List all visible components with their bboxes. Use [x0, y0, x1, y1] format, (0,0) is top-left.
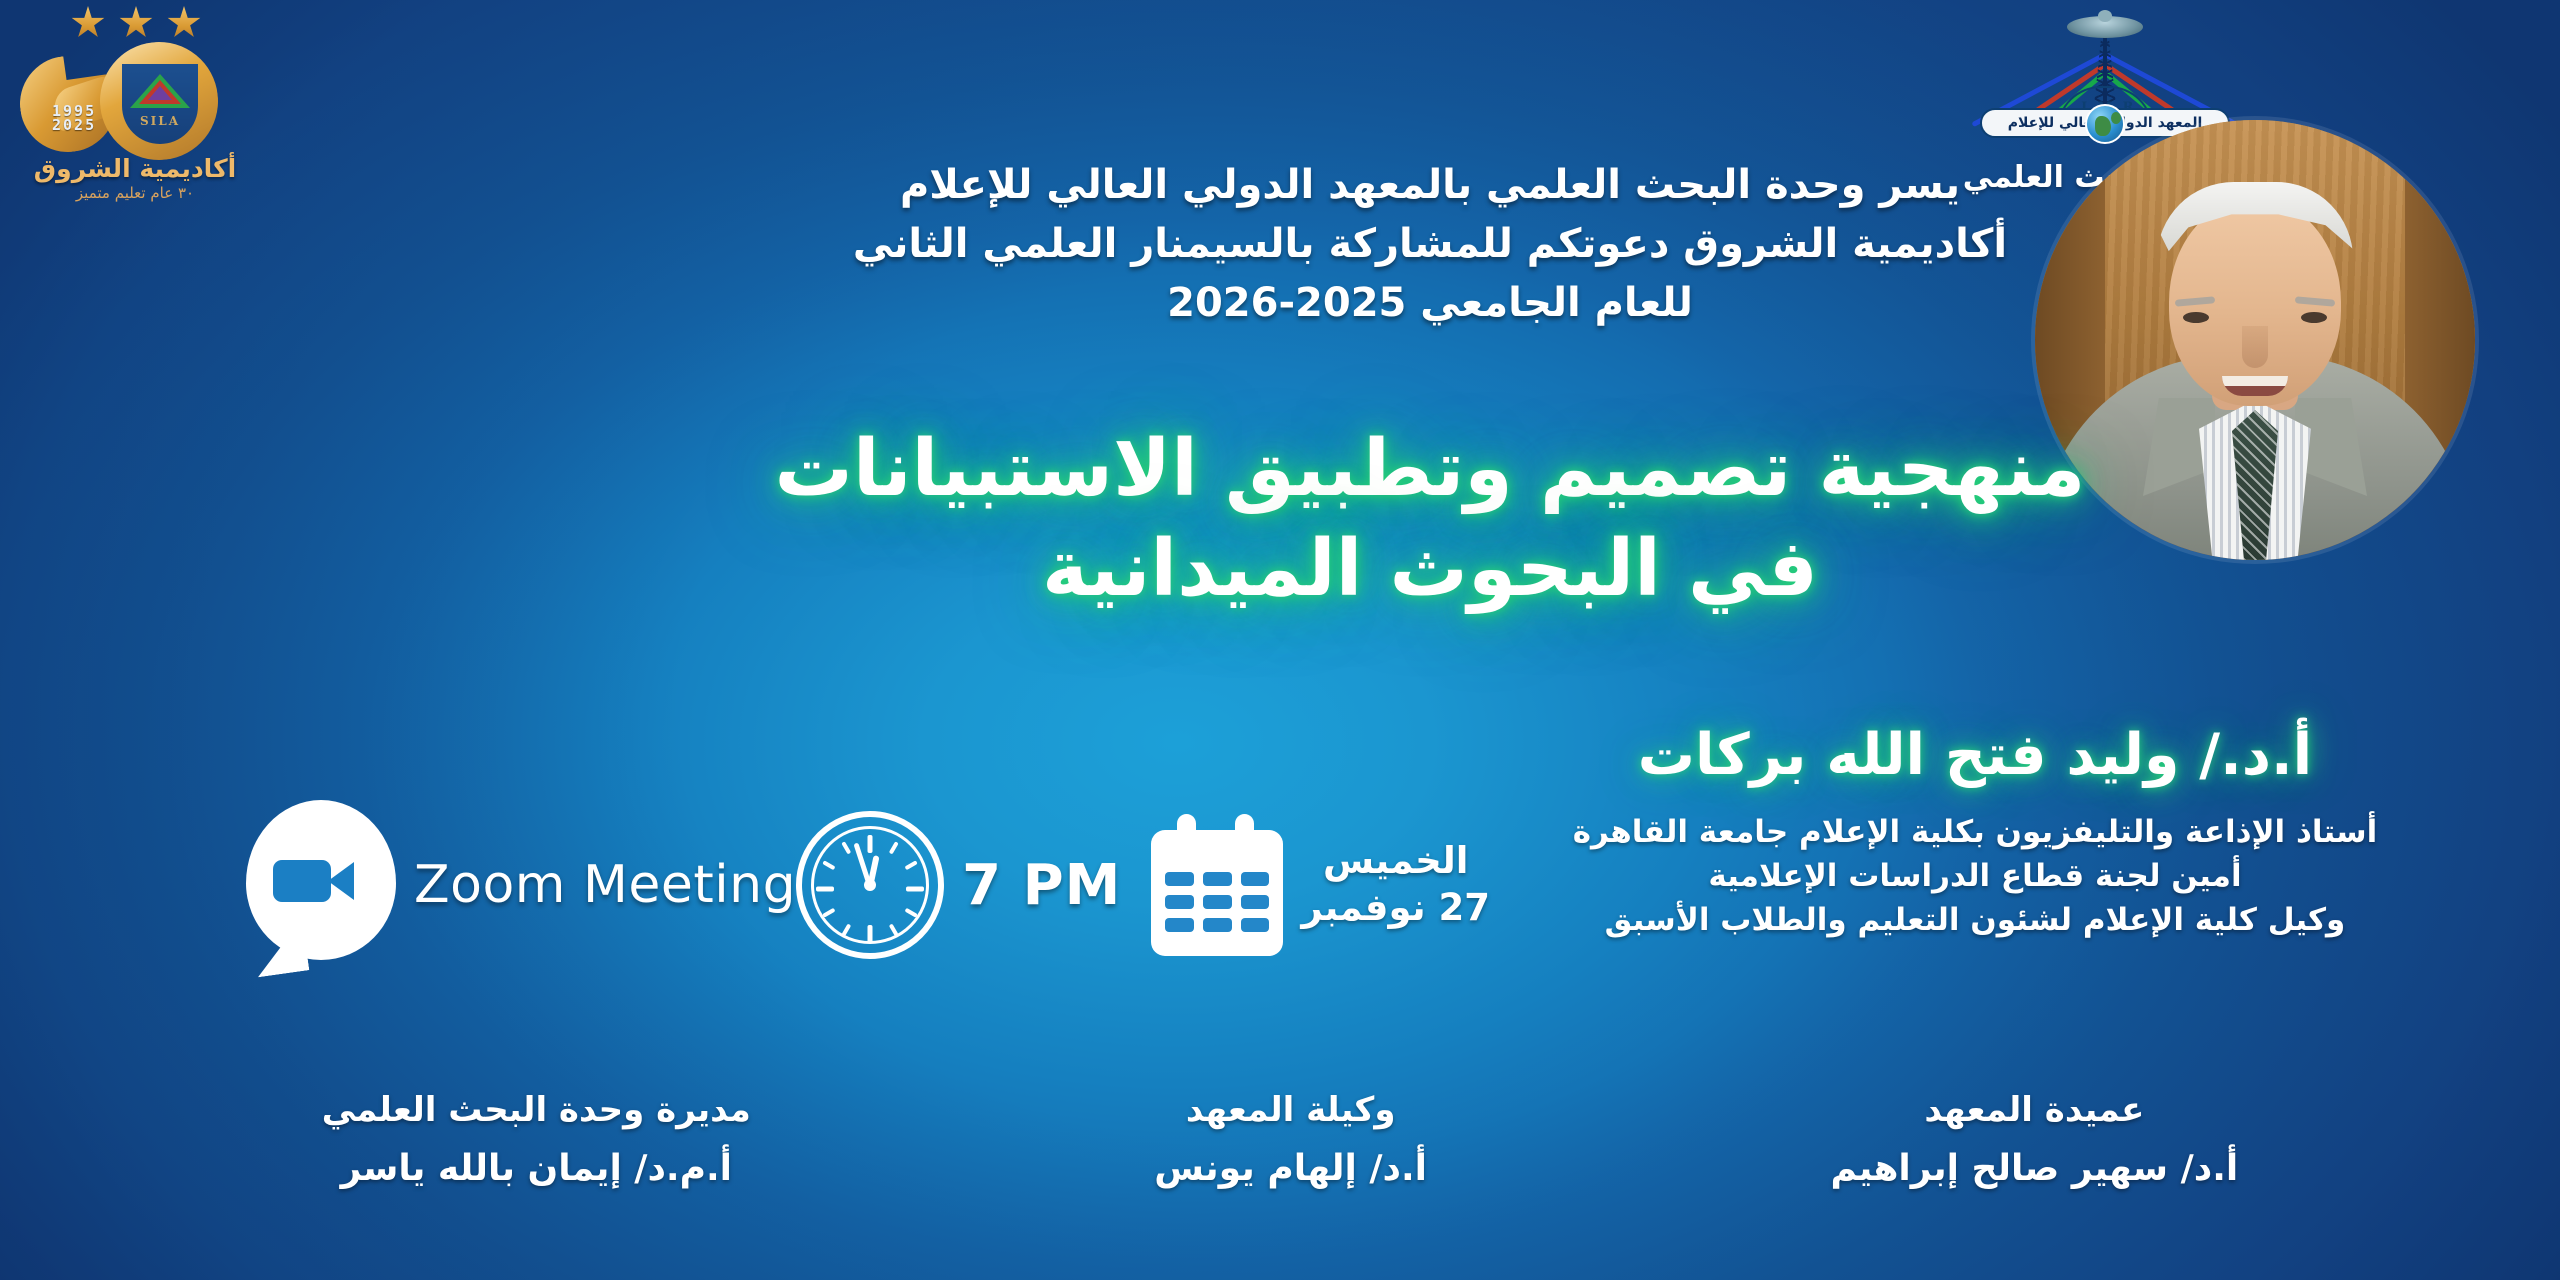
date-info: الخميس 27 نوفمبر	[1151, 814, 1490, 956]
speaker-title-3: وكيل كلية الإعلام لشئون التعليم والطلاب …	[1470, 898, 2480, 942]
anniversary-30-mark: SILA 19952025	[18, 30, 218, 155]
academy-tagline: ٣٠ عام تعليم متميز	[10, 184, 260, 202]
speaker-title-1: أستاذ الإذاعة والتليفزيون بكلية الإعلام …	[1470, 810, 2480, 854]
signatory-name: أ.د/ إلهام يونس	[1154, 1148, 1427, 1189]
date-label: الخميس 27 نوفمبر	[1301, 838, 1490, 931]
event-info-row: Zoom Meeting 7 PM	[40, 780, 1520, 990]
platform-label: Zoom Meeting	[414, 855, 796, 915]
sila-badge-label: SILA	[122, 114, 198, 128]
academy-logo: SILA 19952025 أكاديمية الشروق ٣٠ عام تعل…	[10, 2, 260, 217]
footer-signatories: عميدة المعهد أ.د/ سهير صالح إبراهيم وكيل…	[0, 1090, 2560, 1270]
signatory-vice-dean: وكيلة المعهد أ.د/ إلهام يونس	[1154, 1090, 1427, 1189]
time-info: 7 PM	[796, 811, 1121, 959]
anniversary-years: 19952025	[52, 104, 96, 132]
platform-info: Zoom Meeting	[246, 800, 796, 970]
date-day: الخميس	[1301, 838, 1490, 885]
speaker-name: أ.د./ وليد فتح الله بركات	[1470, 722, 2480, 788]
signatory-name: أ.د/ سهير صالح إبراهيم	[1831, 1148, 2239, 1189]
signatory-role: وكيلة المعهد	[1154, 1090, 1427, 1130]
speaker-titles: أستاذ الإذاعة والتليفزيون بكلية الإعلام …	[1470, 810, 2480, 942]
signatory-name: أ.م.د/ إيمان بالله ياسر	[322, 1148, 751, 1189]
seminar-title-line-2: في البحوث الميدانية	[770, 520, 2090, 620]
seminar-title: منهجية تصميم وتطبيق الاستبيانات في البحو…	[770, 420, 2090, 620]
seminar-poster: SILA 19952025 أكاديمية الشروق ٣٠ عام تعل…	[0, 0, 2560, 1280]
header-line-2: أكاديمية الشروق دعوتكم للمشاركة بالسيمنا…	[770, 216, 2090, 273]
invitation-header: يسر وحدة البحث العلمي بالمعهد الدولي الع…	[770, 155, 2090, 333]
signatory-dean: عميدة المعهد أ.د/ سهير صالح إبراهيم	[1831, 1090, 2239, 1189]
signatory-role: عميدة المعهد	[1831, 1090, 2239, 1130]
seminar-title-line-1: منهجية تصميم وتطبيق الاستبيانات	[770, 420, 2090, 520]
sila-badge-icon: SILA	[122, 64, 198, 144]
signatory-research-director: مديرة وحدة البحث العلمي أ.م.د/ إيمان بال…	[322, 1090, 751, 1189]
zoom-icon	[246, 800, 396, 970]
speaker-portrait	[2035, 120, 2475, 560]
speaker-title-2: أمين لجنة قطاع الدراسات الإعلامية	[1470, 854, 2480, 898]
clock-icon	[796, 811, 944, 959]
time-label: 7 PM	[962, 853, 1121, 918]
header-line-3: للعام الجامعي 2025-2026	[770, 275, 2090, 332]
calendar-icon	[1151, 814, 1283, 956]
header-line-1: يسر وحدة البحث العلمي بالمعهد الدولي الع…	[770, 157, 2090, 214]
academy-name: أكاديمية الشروق	[10, 154, 260, 183]
signatory-role: مديرة وحدة البحث العلمي	[322, 1090, 751, 1130]
date-date: 27 نوفمبر	[1301, 885, 1490, 932]
